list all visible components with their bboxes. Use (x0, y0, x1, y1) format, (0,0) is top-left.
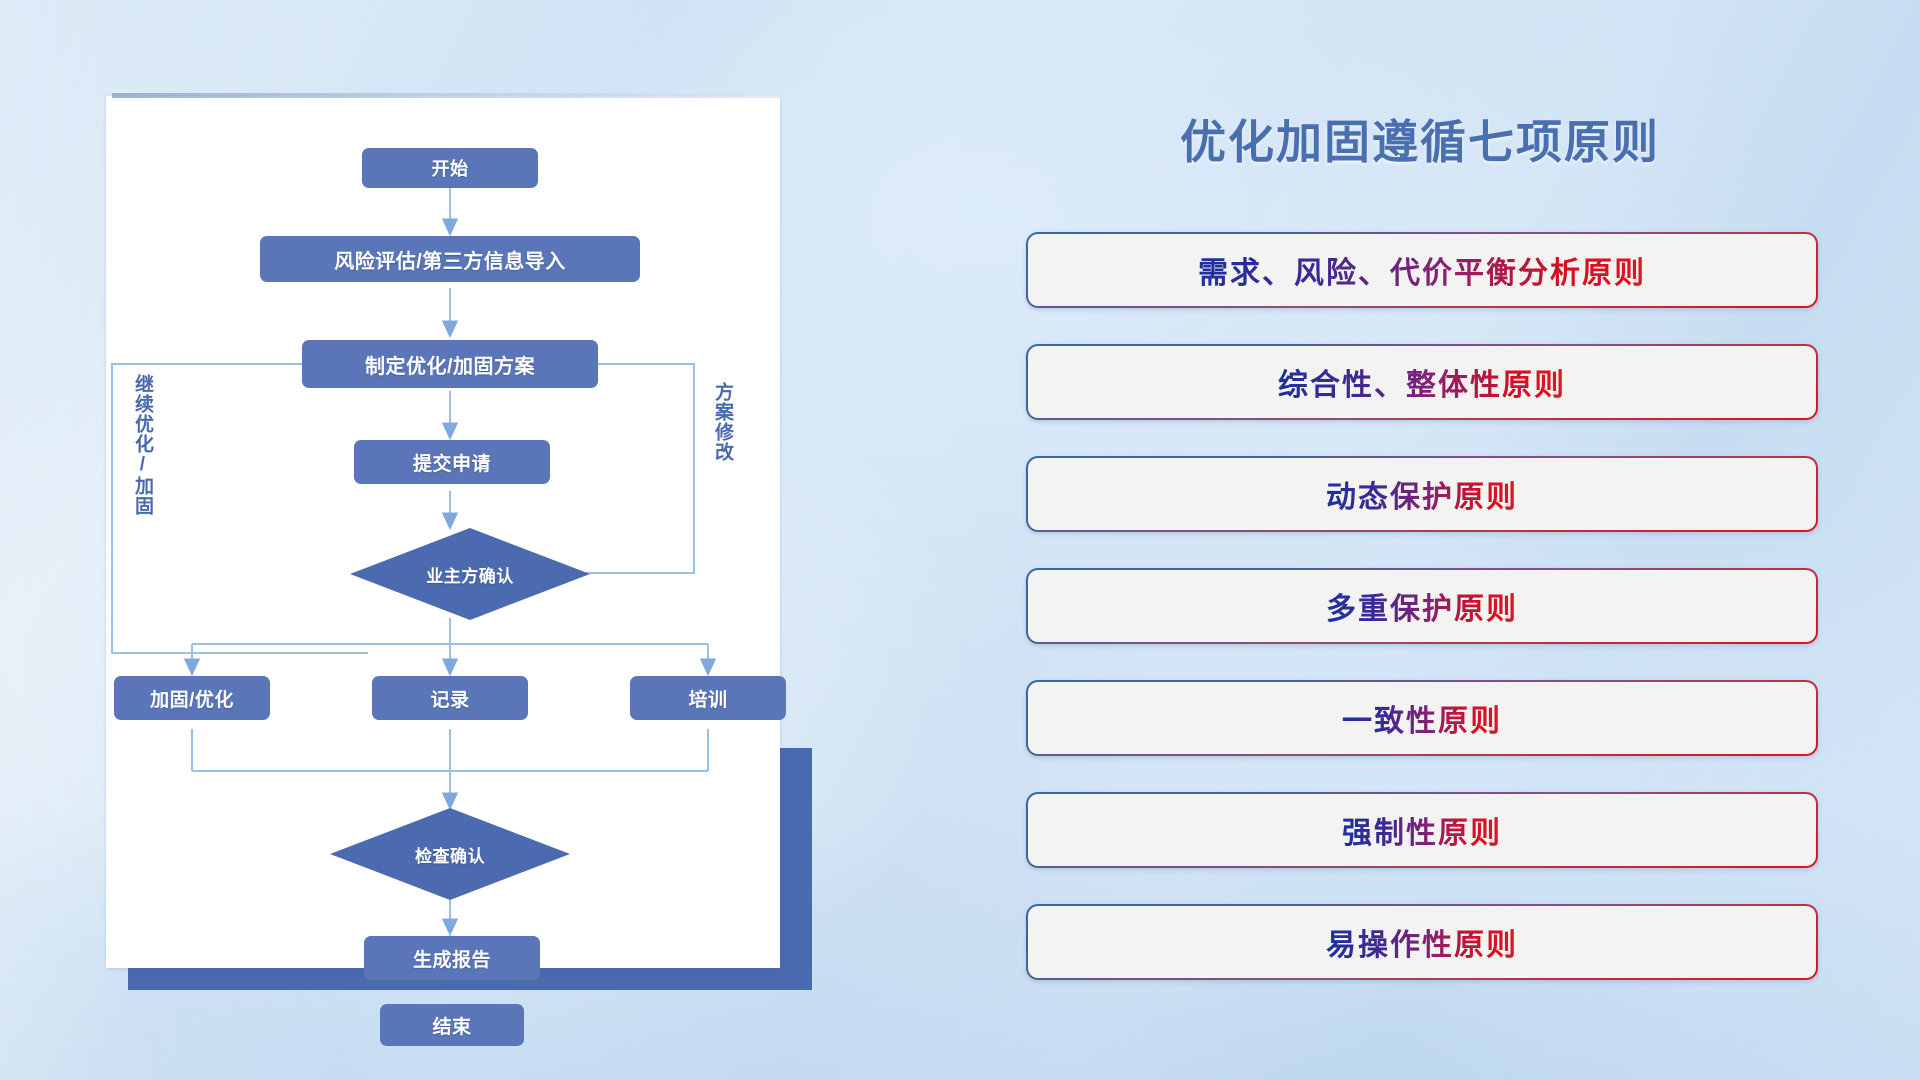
flow-node-training[interactable]: 培训 (630, 676, 786, 720)
flow-node-start[interactable]: 开始 (362, 148, 538, 188)
principle-card-inner: 综合性、整体性原则 (1028, 346, 1816, 418)
flow-node-inspection-label: 检查确认 (415, 842, 485, 867)
flow-node-plan[interactable]: 制定优化/加固方案 (302, 340, 598, 388)
flow-node-end-label: 结束 (432, 1012, 471, 1039)
flow-node-start-label: 开始 (432, 155, 469, 181)
flow-node-owner-confirmation-label: 业主方确认 (426, 562, 514, 587)
flow-label-plan-revision: 方案修改 (712, 382, 732, 462)
principles-list: 需求、风险、代价平衡分析原则 综合性、整体性原则 动态保护原则 多重保护原则 一… (1026, 232, 1818, 980)
principle-label: 综合性、整体性原则 (1278, 360, 1566, 404)
flow-node-generate-report-label: 生成报告 (413, 945, 491, 972)
principle-card-6[interactable]: 强制性原则 (1026, 792, 1818, 868)
principle-card-inner: 易操作性原则 (1028, 906, 1816, 978)
flow-node-plan-label: 制定优化/加固方案 (365, 350, 535, 379)
principle-label: 强制性原则 (1342, 808, 1502, 852)
principle-card-4[interactable]: 多重保护原则 (1026, 568, 1818, 644)
flow-node-reinforce[interactable]: 加固/优化 (114, 676, 270, 720)
principle-card-inner: 动态保护原则 (1028, 458, 1816, 530)
flow-node-risk-assessment-label: 风险评估/第三方信息导入 (334, 245, 566, 274)
principle-card-inner: 多重保护原则 (1028, 570, 1816, 642)
flow-node-submit-application[interactable]: 提交申请 (354, 440, 550, 484)
principle-card-inner: 需求、风险、代价平衡分析原则 (1028, 234, 1816, 306)
flow-node-generate-report[interactable]: 生成报告 (364, 936, 540, 980)
principle-card-7[interactable]: 易操作性原则 (1026, 904, 1818, 980)
flow-label-continue-optimize: 继续优化/加固 (132, 374, 152, 516)
flow-panel-top-edge (112, 93, 780, 98)
principle-card-inner: 强制性原则 (1028, 794, 1816, 866)
principle-card-5[interactable]: 一致性原则 (1026, 680, 1818, 756)
slide-root: 开始 风险评估/第三方信息导入 制定优化/加固方案 提交申请 业主方确认 加固/… (0, 0, 1920, 1080)
flow-node-record-label: 记录 (430, 685, 469, 712)
flow-node-end[interactable]: 结束 (380, 1004, 524, 1046)
flow-node-owner-confirmation[interactable]: 业主方确认 (350, 528, 590, 620)
principle-card-inner: 一致性原则 (1028, 682, 1816, 754)
flow-node-inspection[interactable]: 检查确认 (330, 808, 570, 900)
flow-node-submit-application-label: 提交申请 (413, 449, 491, 476)
flowchart-panel: 开始 风险评估/第三方信息导入 制定优化/加固方案 提交申请 业主方确认 加固/… (106, 96, 780, 968)
principle-label: 动态保护原则 (1326, 472, 1518, 516)
principle-label: 一致性原则 (1342, 696, 1502, 740)
principle-label: 需求、风险、代价平衡分析原则 (1198, 248, 1646, 292)
principle-card-2[interactable]: 综合性、整体性原则 (1026, 344, 1818, 420)
page-title: 优化加固遵循七项原则 (1020, 106, 1820, 172)
flow-node-training-label: 培训 (688, 685, 727, 712)
flow-node-record[interactable]: 记录 (372, 676, 528, 720)
principle-label: 多重保护原则 (1326, 584, 1518, 628)
principle-card-3[interactable]: 动态保护原则 (1026, 456, 1818, 532)
principle-label: 易操作性原则 (1326, 920, 1518, 964)
principle-card-1[interactable]: 需求、风险、代价平衡分析原则 (1026, 232, 1818, 308)
flow-node-risk-assessment[interactable]: 风险评估/第三方信息导入 (260, 236, 640, 282)
flow-node-reinforce-label: 加固/优化 (150, 685, 234, 712)
